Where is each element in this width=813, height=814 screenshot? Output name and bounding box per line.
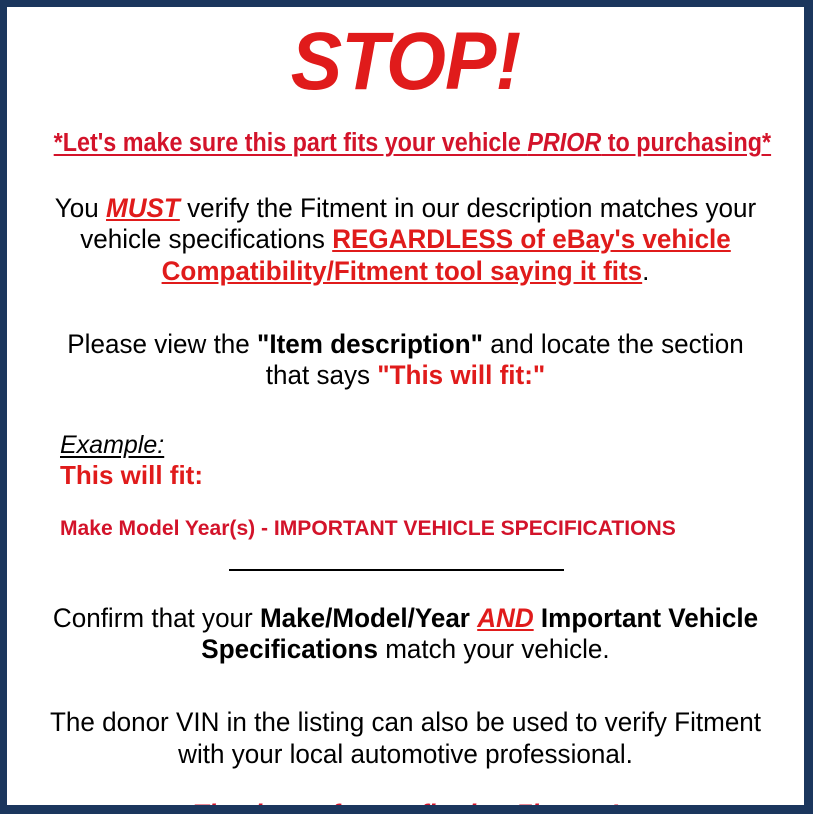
divider-rule (229, 569, 564, 571)
must-seg-5: . (642, 256, 649, 286)
tagline-emphasis-prior: PRIOR (527, 129, 601, 157)
paragraph-item-description: Please view the "Item description" and l… (34, 329, 776, 392)
paragraph-confirm: Confirm that your Make/Model/Year AND Im… (34, 603, 776, 666)
tagline-suffix: to purchasing* (601, 129, 771, 157)
paragraph-must-verify: You MUST verify the Fitment in our descr… (34, 193, 776, 287)
emphasis-item-description: "Item description" (257, 329, 483, 359)
confirm-seg-7: match your vehicle. (378, 634, 610, 664)
confirm-seg-5 (534, 603, 541, 633)
tagline: *Let's make sure this part fits your veh… (54, 129, 758, 157)
closing-thank-you: Thank you for confirming Fitment! (33, 800, 779, 814)
fitment-notice-body: STOP! *Let's make sure this part fits yo… (7, 21, 804, 814)
stop-headline: STOP! (44, 21, 767, 103)
example-spec-line: Make Model Year(s) - IMPORTANT VEHICLE S… (60, 516, 775, 541)
emphasis-must: MUST (106, 193, 180, 223)
paragraph-donor-vin: The donor VIN in the listing can also be… (34, 707, 776, 770)
tagline-prefix: *Let's make sure this part fits your veh… (54, 129, 528, 157)
fitment-notice-frame: STOP! *Let's make sure this part fits yo… (0, 0, 813, 814)
view-seg-1: Please view the (67, 329, 257, 359)
confirm-seg-3 (470, 603, 477, 633)
example-label: Example: (60, 432, 164, 460)
example-fit-heading: This will fit: (60, 461, 790, 491)
must-seg-1: You (55, 193, 106, 223)
example-label-row: Example: (60, 432, 790, 460)
example-block: Example: This will fit: Make Model Year(… (21, 432, 790, 541)
emphasis-and: AND (477, 603, 533, 633)
divider (21, 569, 790, 573)
emphasis-this-will-fit-quote: "This will fit:" (377, 360, 545, 390)
emphasis-make-model-year: Make/Model/Year (260, 603, 470, 633)
confirm-seg-1: Confirm that your (53, 603, 260, 633)
